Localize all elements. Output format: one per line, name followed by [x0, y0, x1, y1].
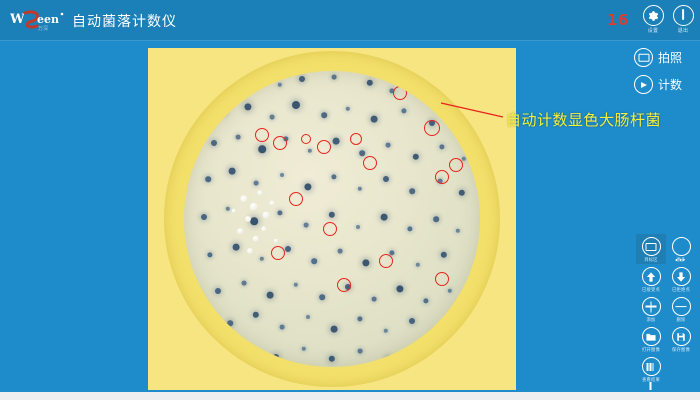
colony-spot [250, 217, 258, 225]
tool-row-1: 目标区 更多 [636, 234, 696, 264]
colony-spot [443, 96, 449, 102]
white-colony-spot [247, 248, 253, 254]
counted-colony-marker [449, 158, 463, 172]
colony-spot [267, 292, 274, 299]
colony-counter-app: W een 万深 自动菌落计数仪 16 设置 退出 [0, 0, 700, 400]
app-header: W een 万深 自动菌落计数仪 16 设置 退出 [0, 0, 700, 41]
white-colony-spot [274, 239, 278, 243]
colony-spot [459, 190, 465, 196]
colony-spot [356, 225, 360, 229]
tool-add[interactable]: 添加 [636, 294, 666, 324]
colony-spot [280, 173, 284, 177]
save-icon-glyph [676, 332, 686, 342]
colony-spot [414, 347, 418, 351]
colony-spot [278, 83, 282, 87]
rect-select-icon-shape [646, 243, 657, 251]
colony-spot [215, 288, 221, 294]
exit-button[interactable]: 退出 [666, 5, 700, 34]
tool-row-5-spacer [666, 354, 696, 384]
colony-spot [372, 297, 377, 302]
colony-spot [254, 181, 259, 186]
colony-spot [413, 154, 419, 160]
results-bars-icon [642, 357, 661, 376]
colony-spot [319, 294, 325, 300]
colony-spot [329, 356, 335, 362]
colony-spot [389, 88, 394, 93]
sample-image-panel[interactable] [148, 48, 516, 390]
colony-spot [333, 138, 340, 145]
colony-spot [454, 113, 458, 117]
tool-grid: 目标区 更多 已接受点 [636, 234, 696, 384]
tool-save-image[interactable]: 保存图像 [666, 324, 696, 354]
counted-colony-marker [317, 140, 331, 154]
count-button-label: 计数 [658, 76, 682, 93]
colony-spot [253, 312, 259, 318]
brand-logo: W een 万深 [10, 7, 68, 33]
counted-colony-marker [350, 133, 362, 145]
white-colony-spot [250, 203, 258, 211]
settings-button-label: 设置 [636, 27, 670, 34]
power-icon [673, 5, 694, 26]
colony-spot [221, 110, 226, 115]
results-bars-icon-shape [647, 363, 656, 371]
svg-text:万深: 万深 [38, 25, 48, 32]
colony-spot [255, 77, 260, 82]
colony-spot [441, 252, 447, 258]
exit-button-label: 退出 [666, 27, 700, 34]
count-button[interactable]: 计数 [634, 71, 696, 98]
colony-spot [416, 263, 420, 267]
colony-count-badge: 16 [607, 11, 629, 29]
white-colony-spot [253, 236, 259, 242]
counted-colony-marker [271, 246, 285, 260]
colony-spot [407, 226, 412, 231]
colony-spot [448, 289, 452, 293]
colony-spot [304, 223, 309, 228]
tool-delete[interactable]: 删除 [666, 294, 696, 324]
power-icon-bar [682, 9, 684, 20]
colony-spot [418, 85, 422, 89]
bottom-status-strip [0, 392, 700, 400]
open-file-icon [642, 327, 661, 346]
tool-row-3: 添加 删除 [636, 294, 696, 324]
colony-spot [331, 174, 336, 179]
colony-spot [438, 179, 443, 184]
white-colony-spot [257, 190, 262, 195]
arrow-down-icon-glyph [676, 271, 687, 282]
svg-text:W: W [10, 12, 25, 27]
colony-spot [283, 136, 288, 141]
colony-spot [302, 347, 306, 351]
colony-spot [226, 207, 230, 211]
colony-spot [346, 107, 350, 111]
white-colony-spot [232, 209, 236, 213]
gear-icon-glyph [648, 10, 659, 21]
counted-colony-marker [323, 222, 337, 236]
colony-spot [433, 216, 439, 222]
plus-icon [642, 297, 661, 316]
colony-spot [462, 157, 466, 161]
colony-spot [242, 281, 247, 286]
colony-spot [304, 183, 311, 190]
colony-spot [331, 326, 338, 333]
colony-spot [456, 229, 460, 233]
counted-colony-marker [363, 156, 377, 170]
colony-spot [292, 101, 300, 109]
settings-button[interactable]: 设置 [636, 5, 670, 34]
colony-spot [236, 135, 241, 140]
colony-spot [277, 210, 282, 215]
white-colony-spot [237, 228, 243, 234]
colony-spot [439, 144, 444, 149]
white-colony-spot [261, 226, 266, 231]
tool-target-region-label: 目标区 [637, 257, 666, 263]
colony-spot [332, 75, 337, 80]
colony-spot [401, 108, 406, 113]
white-colony-spot [270, 201, 275, 206]
page-title: 自动菌落计数仪 [72, 11, 177, 31]
colony-spot [260, 257, 264, 261]
play-icon-triangle [641, 82, 647, 88]
colony-spot [321, 112, 327, 118]
colony-spot [396, 285, 403, 292]
colony-spot [338, 249, 343, 254]
colony-spot [280, 325, 285, 330]
colony-spot [244, 103, 251, 110]
arrow-down-icon [672, 267, 691, 286]
counted-colony-marker [289, 192, 303, 206]
capture-photo-label: 拍照 [658, 49, 682, 66]
rect-select-icon [642, 237, 661, 256]
minus-icon-shape [676, 306, 687, 308]
svg-text:een: een [37, 13, 59, 26]
save-icon [672, 327, 691, 346]
colony-spot [367, 80, 373, 86]
white-colony-spot [245, 216, 251, 222]
colony-spot [381, 214, 388, 221]
logo-mark: W een 万深 [10, 7, 68, 33]
colony-spot [205, 176, 211, 182]
colony-spot [384, 329, 388, 333]
colony-spot [371, 116, 378, 123]
tool-target-region[interactable]: 目标区 [636, 234, 666, 264]
capture-photo-button[interactable]: 拍照 [634, 44, 696, 71]
minus-icon [672, 297, 691, 316]
tool-add-label: 添加 [637, 317, 666, 323]
tool-save-image-label: 保存图像 [667, 347, 696, 353]
colony-spot [229, 168, 236, 175]
tool-row-5: 查看结果 [636, 354, 696, 384]
counted-colony-marker [255, 128, 269, 142]
white-colony-spot [263, 212, 270, 219]
play-icon [634, 75, 653, 94]
colony-spot [429, 120, 435, 126]
more-dots-icon [672, 237, 691, 256]
tool-view-results-label: 查看结果 [637, 377, 666, 383]
tool-open-image[interactable]: 打开图像 [636, 324, 666, 354]
tool-rejected-points[interactable]: 已拒绝点 [666, 264, 696, 294]
camera-icon-body [638, 53, 649, 62]
colony-spot [386, 143, 391, 148]
colony-spot [433, 330, 439, 336]
tool-more[interactable]: 更多 [666, 234, 696, 264]
petri-dish-agar [184, 71, 480, 367]
tool-more-label: 更多 [667, 257, 696, 263]
annotation-text: 自动计数显色大肠杆菌 [506, 109, 661, 130]
counted-colony-marker [435, 272, 449, 286]
colony-spot [245, 348, 250, 353]
tool-view-results[interactable]: 查看结果 [636, 354, 666, 384]
colony-spot [233, 86, 240, 93]
colony-spot [358, 349, 363, 354]
colony-spot [409, 188, 415, 194]
arrow-up-icon [642, 267, 661, 286]
colony-spot [308, 149, 312, 153]
colony-spot [207, 252, 212, 257]
colony-spot [211, 140, 217, 146]
colony-spot [294, 283, 298, 287]
colony-spot [329, 212, 335, 218]
tool-row-2: 已接受点 已拒绝点 [636, 264, 696, 294]
colony-spot [409, 318, 415, 324]
colony-spot [299, 76, 305, 82]
colony-spot [201, 214, 207, 220]
colony-spot [358, 187, 362, 191]
counted-colony-marker [393, 86, 407, 100]
arrow-up-icon-glyph [646, 271, 657, 282]
colony-spot [306, 315, 310, 319]
colony-spot [273, 354, 279, 360]
more-dots-icon-shape [676, 246, 687, 248]
tool-delete-label: 删除 [667, 317, 696, 323]
colony-spot [385, 356, 391, 362]
open-file-icon-glyph [646, 332, 657, 342]
colony-spot [357, 316, 362, 321]
counted-colony-marker [301, 134, 311, 144]
colony-spot [270, 115, 275, 120]
tool-accepted-points-label: 已接受点 [637, 287, 666, 293]
colony-spot [423, 298, 428, 303]
colony-spot [383, 176, 389, 182]
gear-icon [643, 5, 664, 26]
tool-rejected-points-label: 已拒绝点 [667, 287, 696, 293]
primary-action-list: 拍照 计数 [634, 44, 696, 98]
white-colony-spot [240, 195, 247, 202]
colony-spot [233, 244, 240, 251]
colony-spot [389, 250, 394, 255]
tool-accepted-points[interactable]: 已接受点 [636, 264, 666, 294]
colony-spot [258, 145, 266, 153]
colony-spot [359, 150, 365, 156]
counted-colony-marker [379, 254, 393, 268]
camera-icon [634, 48, 653, 67]
colony-spot [285, 246, 291, 252]
tool-open-image-label: 打开图像 [637, 347, 666, 353]
plus-icon-shape [646, 301, 657, 312]
colony-spot [345, 284, 351, 290]
petri-dish-rim [164, 51, 500, 387]
tool-row-4: 打开图像 保存图像 [636, 324, 696, 354]
colony-spot [227, 320, 233, 326]
colony-spot [362, 259, 369, 266]
colony-spot [311, 258, 317, 264]
